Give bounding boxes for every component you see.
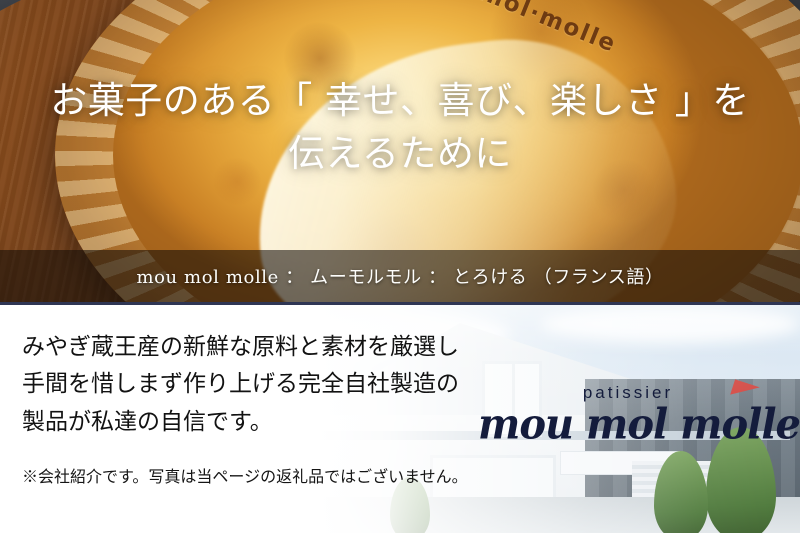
- headline-line-2: 伝えるために: [0, 127, 800, 180]
- logo-wordmark: mou mol molle: [478, 404, 778, 447]
- hero-photo-cheese-tart: mou·mol·molle お菓子のある「 幸せ、喜び、楽しさ 」を 伝えるため…: [0, 0, 800, 305]
- caption-band: mou mol molle ： ムーモルモル ： とろける （フランス語）: [0, 250, 800, 302]
- disclaimer-note: ※会社紹介です。写真は当ページの返礼品ではございません。: [22, 463, 468, 487]
- copy-line: みやぎ蔵王産の新鮮な原料と素材を厳選し: [22, 329, 472, 366]
- company-description: みやぎ蔵王産の新鮮な原料と素材を厳選し 手間を惜しまず作り上げる完全自社製造の …: [22, 329, 472, 441]
- copy-line: 手間を惜しまず作り上げる完全自社製造の: [22, 366, 472, 403]
- headline-line-1: お菓子のある「 幸せ、喜び、楽しさ 」を: [50, 79, 750, 122]
- caption-band-text: mou mol molle ： ムーモルモル ： とろける （フランス語）: [136, 263, 663, 289]
- hero-headline: お菓子のある「 幸せ、喜び、楽しさ 」を 伝えるために: [0, 74, 800, 181]
- copy-line: 製品が私達の自信です。: [22, 404, 472, 441]
- company-intro-section: patissier mou mol molle みやぎ蔵王産の新鮮な原料と素材を…: [0, 305, 800, 533]
- promotional-banner: mou·mol·molle お菓子のある「 幸せ、喜び、楽しさ 」を 伝えるため…: [0, 0, 800, 533]
- brand-logo: patissier mou mol molle: [478, 383, 778, 446]
